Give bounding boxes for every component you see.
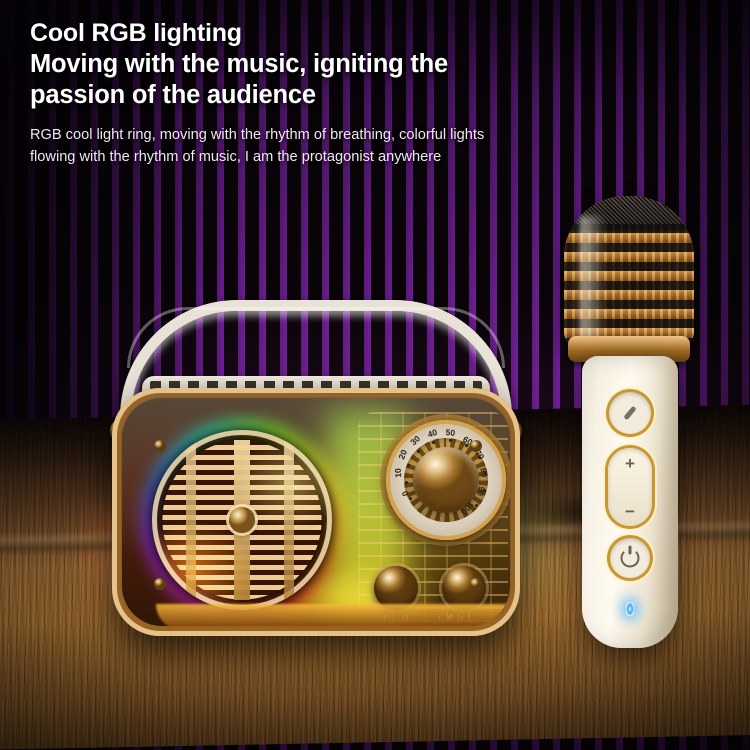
headline-line-2: Moving with the music, igniting the	[30, 49, 640, 80]
banner-stage: Cool RGB lighting Moving with the music,…	[0, 0, 750, 750]
retro-speaker: 0102030405060708090100 ▷ ❘❘ ◁ ◑ M ▷❘	[96, 300, 536, 645]
tuning-dial[interactable]: 0102030405060708090100	[386, 420, 506, 540]
dial-tick	[449, 439, 452, 442]
microphone-handle-body: + −	[582, 356, 678, 648]
grille-center-dot-icon	[229, 507, 255, 533]
dial-number: 40	[426, 426, 438, 439]
dial-tick	[432, 441, 435, 444]
karaoke-microphone: + −	[556, 196, 702, 656]
speaker-transparent-shell: 0102030405060708090100 ▷ ❘❘ ◁ ◑ M ▷❘	[122, 398, 510, 626]
subcopy-line-1: RGB cool light ring, moving with the rhy…	[30, 124, 640, 146]
headline-line-3: passion of the audience	[30, 80, 640, 111]
subcopy-line-2: flowing with the rhythm of music, I am t…	[30, 146, 640, 168]
volume-up-label[interactable]: +	[625, 454, 635, 474]
screw-icon-bottom-right	[470, 578, 482, 590]
dial-number: 80	[479, 467, 490, 478]
screw-icon-bottom-left	[154, 578, 166, 590]
microphone-head-highlight	[580, 216, 606, 344]
dial-number: 10	[393, 468, 404, 478]
power-icon	[621, 549, 640, 568]
screw-icon-top-right	[470, 440, 482, 452]
volume-down-label[interactable]: −	[625, 502, 635, 522]
dial-number: 20	[397, 449, 410, 461]
dial-number: 90	[475, 485, 487, 497]
microphone-grille-head	[564, 196, 694, 348]
volume-rocker[interactable]: + −	[608, 448, 652, 526]
screw-icon-top-left	[154, 440, 166, 452]
speaker-driver-grille	[152, 430, 332, 610]
power-button[interactable]	[610, 538, 650, 578]
dial-tick	[405, 481, 408, 484]
speaker-base-glow	[156, 604, 510, 626]
status-led-indicator	[626, 602, 634, 616]
headline-line-1: Cool RGB lighting	[30, 18, 640, 49]
microphone-icon	[623, 406, 636, 421]
dial-tick	[417, 450, 420, 453]
mic-mute-button[interactable]	[609, 392, 651, 434]
speaker-body: 0102030405060708090100 ▷ ❘❘ ◁ ◑ M ▷❘	[112, 388, 520, 636]
subcopy: RGB cool light ring, moving with the rhy…	[30, 124, 640, 168]
dial-number: 50	[445, 427, 455, 438]
copy-block: Cool RGB lighting Moving with the music,…	[30, 18, 640, 168]
